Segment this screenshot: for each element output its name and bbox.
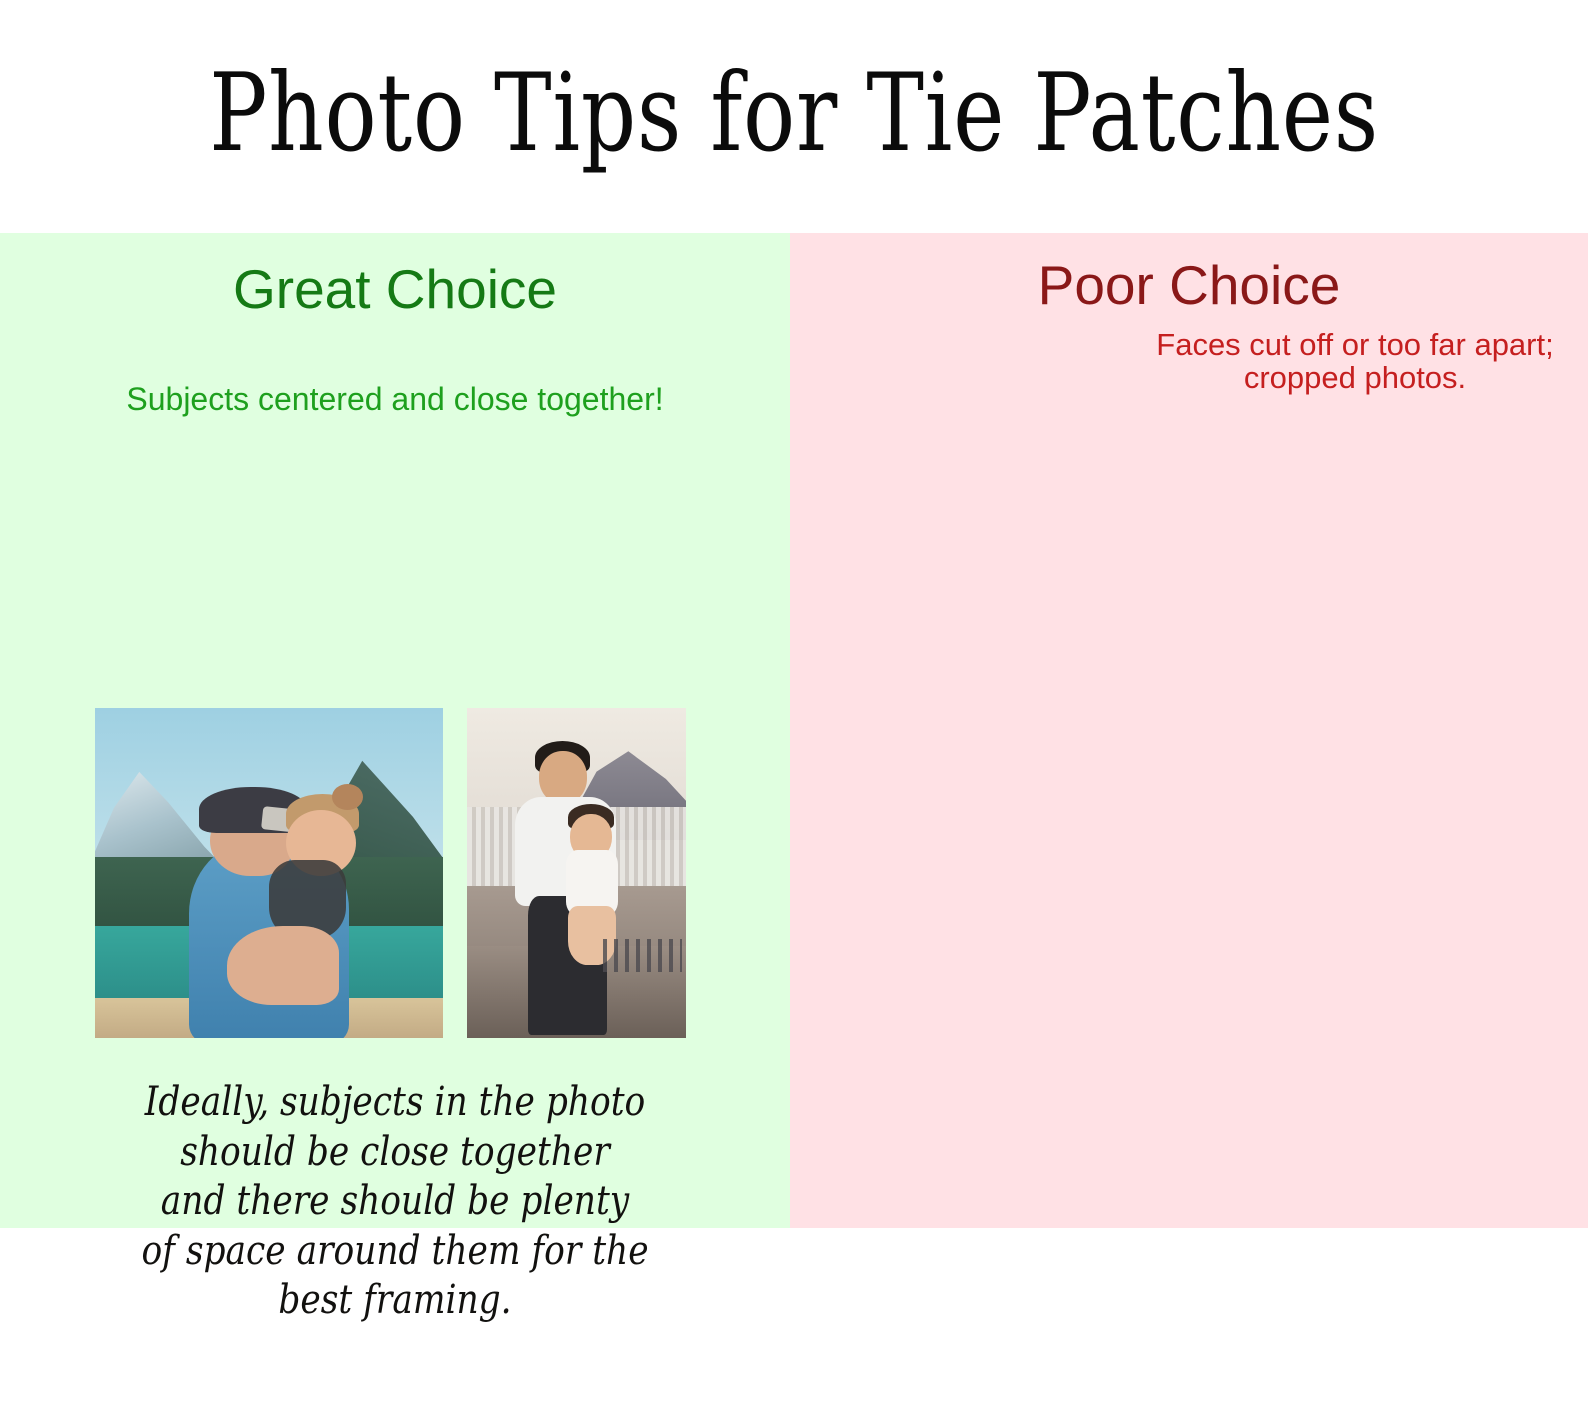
great-choice-panel: Great Choice Subjects centered and close… — [0, 233, 790, 1228]
background-crowd — [603, 939, 682, 972]
poor-choice-panel: Poor Choice Faces cut off or too far apa… — [790, 233, 1588, 1228]
great-choice-description: Ideally, subjects in the photo should be… — [90, 1078, 701, 1326]
photo-father-holding-baby: father-holding-baby-hillside-town — [467, 708, 686, 1038]
toddler-hair-bun — [332, 784, 363, 810]
comparison-panels: Great Choice Subjects centered and close… — [0, 233, 1588, 1228]
photo-scene — [467, 708, 686, 1038]
photo-scene — [95, 708, 443, 1038]
page-title: Photo Tips for Tie Patches — [209, 60, 1379, 168]
father-head — [539, 751, 587, 804]
great-choice-heading: Great Choice — [0, 257, 790, 321]
poor-choice-heading: Poor Choice — [790, 253, 1588, 317]
father-arm — [227, 926, 338, 1005]
great-choice-subtitle: Subjects centered and close together! — [0, 381, 790, 418]
title-band: Photo Tips for Tie Patches — [0, 0, 1588, 233]
poor-choice-subtitle: Faces cut off or too far apart; cropped … — [1140, 328, 1570, 395]
photo-father-kissing-toddler: father-kissing-toddler-mountain-lake — [95, 708, 443, 1038]
